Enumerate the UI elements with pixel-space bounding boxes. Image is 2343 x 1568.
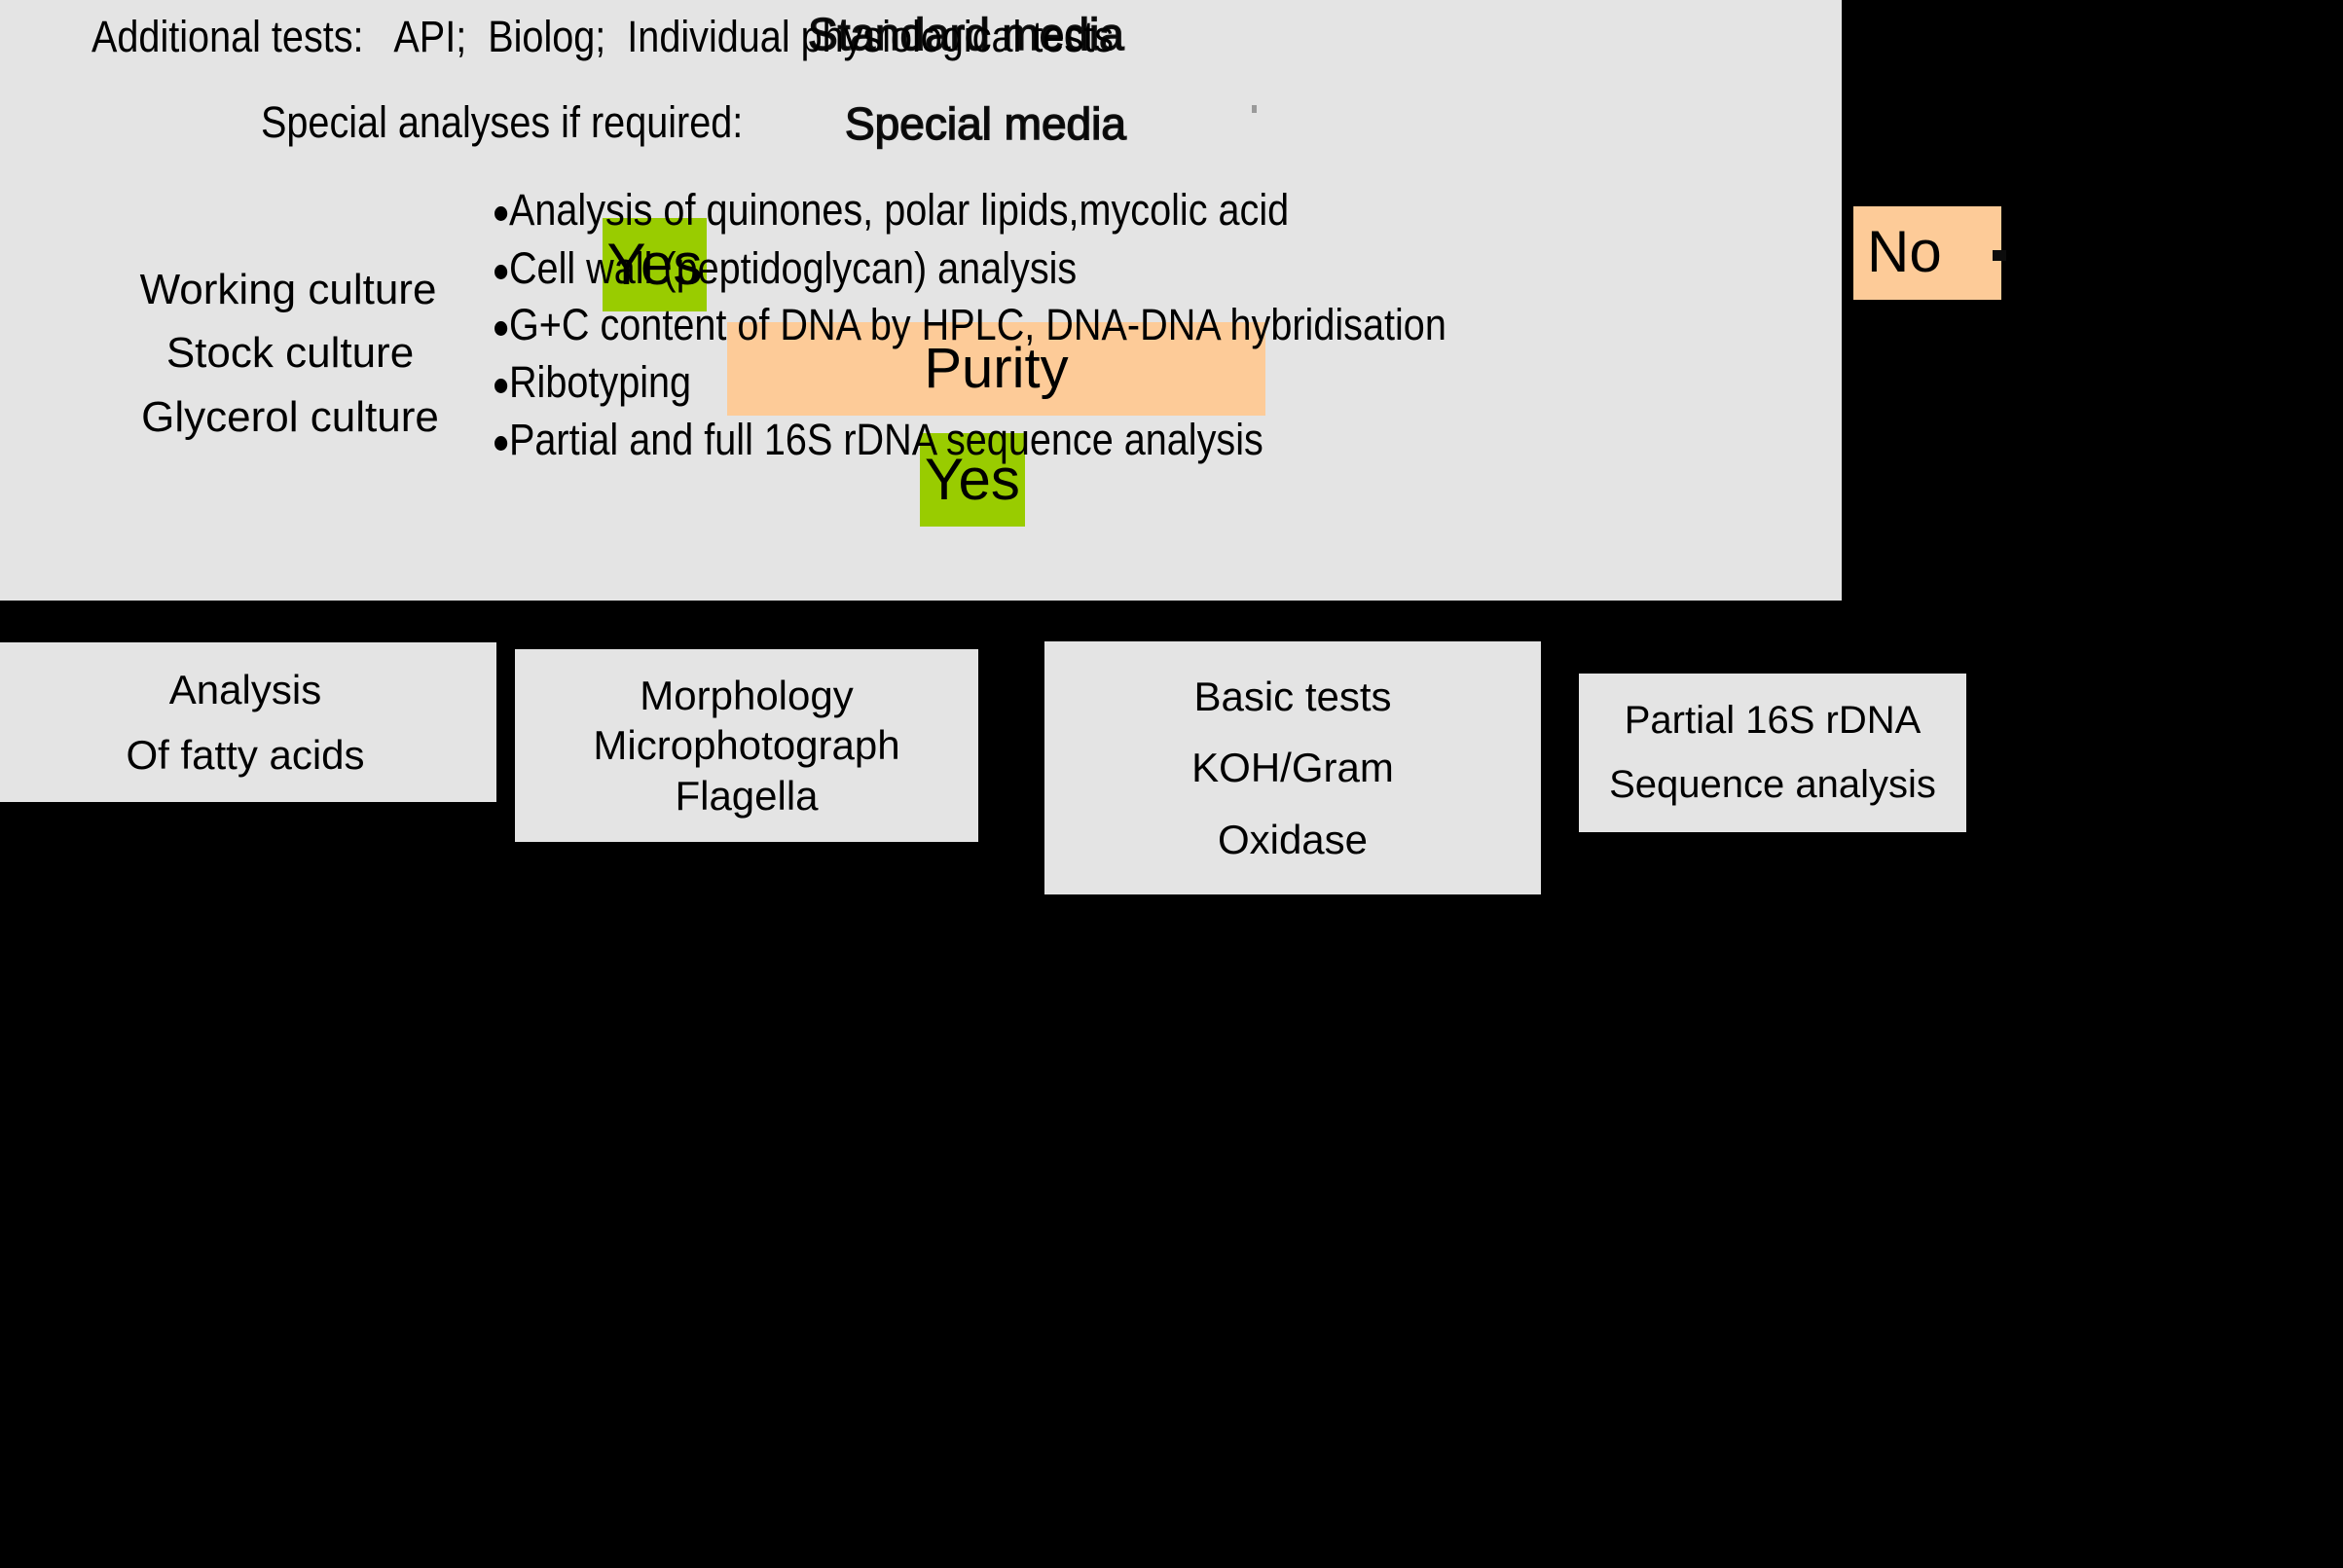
special-media-label: Special media — [845, 97, 1126, 150]
decision-no-label: No — [1867, 206, 1942, 297]
special-analysis-bullet-item: Partial and full 16S rDNA sequence analy… — [494, 415, 1263, 465]
culture-working-label: Working culture — [140, 267, 441, 313]
special-analysis-bullet-item: Cell wall (peptidoglycan) analysis — [494, 243, 1077, 294]
special-analysis-bullet-label: Ribotyping — [509, 357, 691, 408]
analysis-basic-tests-box: Basic tests KOH/Gram Oxidase — [1044, 641, 1541, 894]
special-analyses-subtitle: Special analyses if required: — [261, 97, 743, 148]
additional-tests-title: Additional tests: API; Biolog; Individua… — [92, 12, 1114, 62]
analysis-partial-16s-rdna-box: Partial 16S rDNA Sequence analysis — [1579, 674, 1966, 832]
analysis-basic-tests-line-1: Basic tests — [1193, 675, 1391, 718]
analysis-basic-tests-line-2: KOH/Gram — [1191, 746, 1394, 789]
bullet-dot-icon — [494, 379, 507, 393]
decision-no-chip[interactable]: No — [1853, 206, 2001, 300]
analysis-morphology-line-2: Microphotograph — [593, 723, 899, 767]
analysis-morphology-box: Morphology Microphotograph Flagella — [515, 649, 978, 842]
diagram-canvas: Standard media Special media Working cul… — [0, 0, 2343, 1568]
analysis-fatty-acids-line-1: Analysis — [169, 668, 321, 711]
special-analysis-bullet-label: Cell wall (peptidoglycan) analysis — [509, 243, 1077, 294]
analysis-rdna-line-1: Partial 16S rDNA — [1625, 700, 1922, 742]
special-analysis-bullet-item: Ribotyping — [494, 357, 691, 408]
special-analysis-bullet-item: G+C content of DNA by HPLC, DNA-DNA hybr… — [494, 300, 1446, 350]
bullet-dot-icon — [494, 436, 507, 451]
cut-off-connector-mark — [1993, 250, 2006, 261]
culture-stock-label: Stock culture — [166, 330, 414, 377]
analysis-fatty-acids-line-2: Of fatty acids — [126, 733, 364, 777]
stray-mark — [1252, 105, 1257, 113]
bullet-dot-icon — [494, 265, 507, 279]
special-analysis-bullet-label: G+C content of DNA by HPLC, DNA-DNA hybr… — [509, 300, 1446, 350]
special-analysis-bullet-label: Analysis of quinones, polar lipids,mycol… — [509, 185, 1289, 236]
bullet-dot-icon — [494, 206, 507, 221]
analysis-basic-tests-line-3: Oxidase — [1218, 818, 1368, 861]
special-analysis-bullet-item: Analysis of quinones, polar lipids,mycol… — [494, 185, 1289, 236]
bullet-dot-icon — [494, 321, 507, 336]
analysis-morphology-line-3: Flagella — [675, 774, 818, 818]
special-analysis-bullet-label: Partial and full 16S rDNA sequence analy… — [509, 415, 1263, 465]
culture-types-box: Working culture Stock culture Glycerol c… — [41, 222, 539, 479]
culture-glycerol-label: Glycerol culture — [141, 394, 439, 441]
analysis-fatty-acids-box: Analysis Of fatty acids — [0, 642, 496, 802]
analysis-morphology-line-1: Morphology — [640, 674, 853, 717]
analysis-rdna-line-2: Sequence analysis — [1609, 764, 1936, 806]
